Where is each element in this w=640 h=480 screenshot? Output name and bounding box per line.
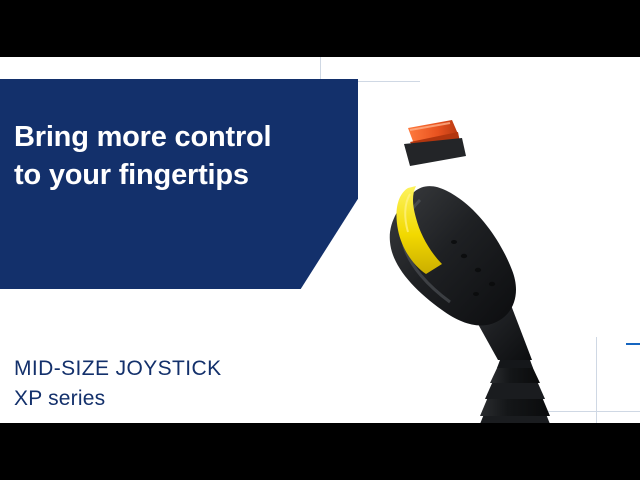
video-frame: Bring more control to your fingertips MI…	[0, 0, 640, 480]
headline-line-1: Bring more control	[14, 121, 271, 153]
technical-line-vertical-1	[320, 57, 321, 81]
product-caption: MID-SIZE JOYSTICK XP series	[14, 354, 221, 414]
slide-background: Bring more control to your fingertips MI…	[0, 57, 640, 423]
letterbox-bar-top	[0, 0, 640, 57]
caption-series-line: XP series	[14, 384, 221, 414]
rubber-boot	[472, 352, 558, 423]
caption-product-line: MID-SIZE JOYSTICK	[14, 354, 221, 384]
product-illustration	[380, 114, 640, 423]
joystick-graphic	[380, 114, 640, 423]
letterbox-bar-bottom	[0, 423, 640, 480]
headline-line-2: to your fingertips	[14, 157, 334, 195]
headline-text: Bring more control to your fingertips	[14, 119, 334, 194]
